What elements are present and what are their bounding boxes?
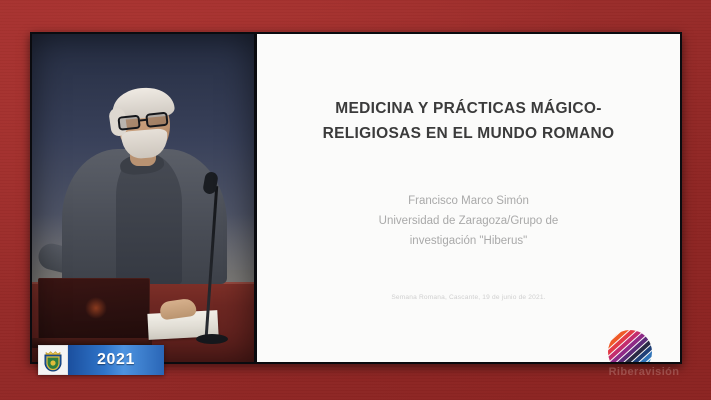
slide-affiliation-line-2: investigación "Hiberus"	[324, 232, 614, 252]
laptop	[38, 278, 150, 340]
slide-affiliation-line-1: Universidad de Zaragoza/Grupo de	[324, 212, 614, 232]
slide-title-line-1: MEDICINA Y PRÁCTICAS MÁGICO-	[304, 96, 634, 121]
slide-title-line-2: RELIGIOSAS EN EL MUNDO ROMANO	[304, 121, 634, 146]
slide-author-block: Francisco Marco Simón Universidad de Zar…	[324, 192, 614, 251]
laptop-screen-glow	[85, 297, 107, 319]
slide-footer-event: Semana Romana, Cascante, 19 de junio de …	[257, 294, 680, 301]
badge-year-bar: 2021	[68, 345, 164, 375]
badge-year-label: 2021	[97, 351, 135, 369]
coat-of-arms-shield-icon	[38, 345, 68, 375]
rainbow-sphere-logo-icon	[602, 324, 658, 362]
video-stage: MEDICINA Y PRÁCTICAS MÁGICO- RELIGIOSAS …	[30, 32, 682, 364]
presentation-slide[interactable]: MEDICINA Y PRÁCTICAS MÁGICO- RELIGIOSAS …	[257, 34, 680, 362]
channel-watermark: Riberavisión	[588, 366, 700, 378]
glasses-left-lens	[117, 115, 140, 131]
slide-title: MEDICINA Y PRÁCTICAS MÁGICO- RELIGIOSAS …	[304, 96, 634, 146]
microphone-base	[196, 334, 228, 344]
glasses-right-lens	[145, 112, 168, 128]
event-badge[interactable]: 2021	[38, 345, 164, 375]
speaker-video-feed[interactable]	[32, 34, 254, 362]
slide-author-name: Francisco Marco Simón	[324, 192, 614, 212]
